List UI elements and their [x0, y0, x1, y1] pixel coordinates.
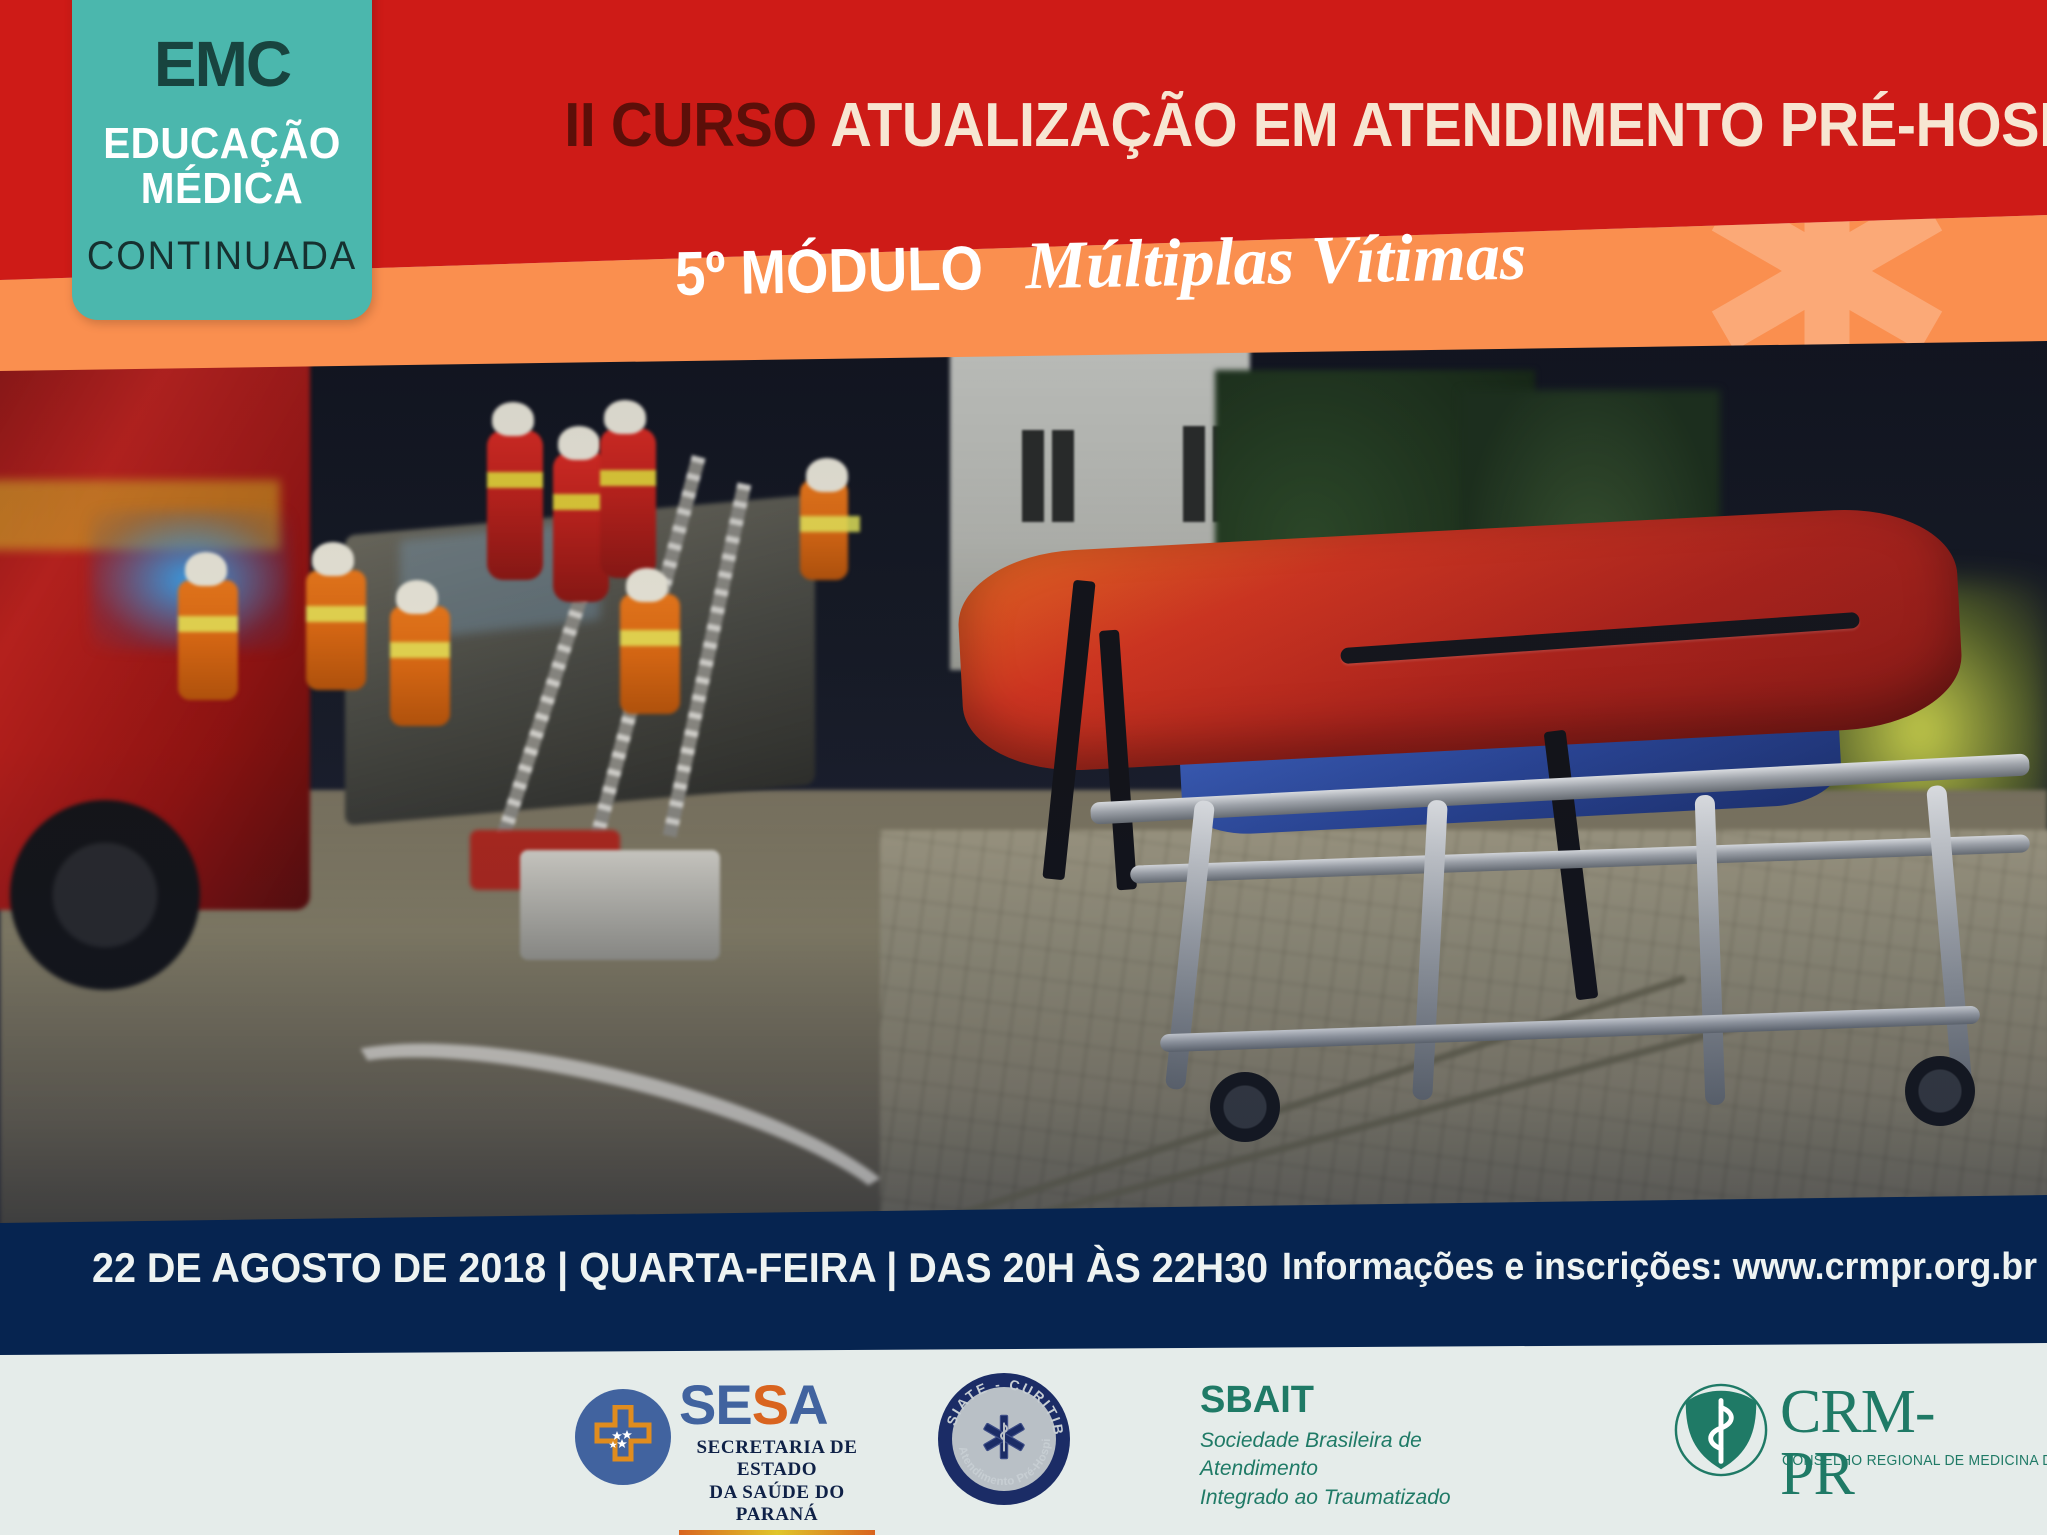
crm-pr-sub-line: CONSELHO REGIONAL DE MEDICINA DO ESTADO …: [1782, 1453, 2047, 1469]
sponsor-logos: SESA SECRETARIA DE ESTADO DA SAÚDE DO PA…: [0, 1355, 2047, 1535]
sesa-acronym: SESA: [679, 1377, 875, 1433]
course-edition: II CURSO: [564, 91, 830, 160]
module-number: 5º MÓDULO: [674, 238, 983, 306]
sbait-sub-line-1: Sociedade Brasileira de Atendimento: [1200, 1427, 1530, 1484]
emc-line-2: MÉDICA: [84, 167, 360, 212]
emc-monogram: EMC: [72, 32, 372, 96]
crm-pr-acronym: CRM-PR: [1780, 1381, 2002, 1505]
sesa-cross-badge-icon: [591, 1405, 655, 1469]
photo-tint-overlay: [0, 330, 2047, 1260]
event-poster: II CURSO ATUALIZAÇÃO EM ATENDIMENTO PRÉ-…: [0, 0, 2047, 1535]
sesa-acronym-b: S: [752, 1373, 788, 1436]
sesa-sub-line-2: DA SAÚDE DO PARANÁ: [679, 1482, 875, 1527]
sbait-acronym: SBAIT: [1200, 1381, 1530, 1419]
sesa-acronym-a: SE: [679, 1373, 752, 1436]
course-name: ATUALIZAÇÃO EM ATENDIMENTO PRÉ-HOSPITALA…: [830, 91, 2047, 160]
sesa-badge: [575, 1389, 671, 1485]
sbait-sub-line-2: Integrado ao Traumatizado: [1200, 1484, 1530, 1512]
emc-logo: EMC EDUCAÇÃO MÉDICA CONTINUADA: [72, 0, 372, 320]
sesa-acronym-c: A: [788, 1373, 827, 1436]
siate-circular-text: SIATE - CURITIBA Atendimento Pré-Hospita…: [938, 1373, 1070, 1505]
sponsor-footer: SESA SECRETARIA DE ESTADO DA SAÚDE DO PA…: [0, 1355, 2047, 1535]
sbait-logo: SBAIT Sociedade Brasileira de Atendiment…: [1200, 1381, 1530, 1512]
sesa-text: SESA SECRETARIA DE ESTADO DA SAÚDE DO PA…: [679, 1377, 875, 1535]
asclepius-shield-icon: [1672, 1381, 1770, 1479]
event-datetime: 22 DE AGOSTO DE 2018 | QUARTA-FEIRA | DA…: [92, 1244, 1268, 1292]
sesa-divider: [679, 1530, 875, 1535]
registration-info[interactable]: Informações e inscrições: www.crmpr.org.…: [1282, 1246, 2037, 1289]
course-title: II CURSO ATUALIZAÇÃO EM ATENDIMENTO PRÉ-…: [564, 95, 2015, 157]
sesa-sub-line-1: SECRETARIA DE ESTADO: [679, 1437, 875, 1482]
siate-logo: SIATE - CURITIBA Atendimento Pré-Hospita…: [938, 1373, 1070, 1505]
sesa-logo: SESA SECRETARIA DE ESTADO DA SAÚDE DO PA…: [575, 1373, 875, 1503]
emc-line-3: CONTINUADA: [80, 234, 365, 279]
emc-line-1: EDUCAÇÃO: [84, 122, 360, 167]
rescue-scene-photo: [0, 330, 2047, 1260]
star-of-life-icon: [983, 1415, 1024, 1458]
module-name: Múltiplas Vítimas: [1025, 218, 1527, 304]
crm-pr-logo: CRM-PR CONSELHO REGIONAL DE MEDICINA DO …: [1672, 1375, 2002, 1495]
